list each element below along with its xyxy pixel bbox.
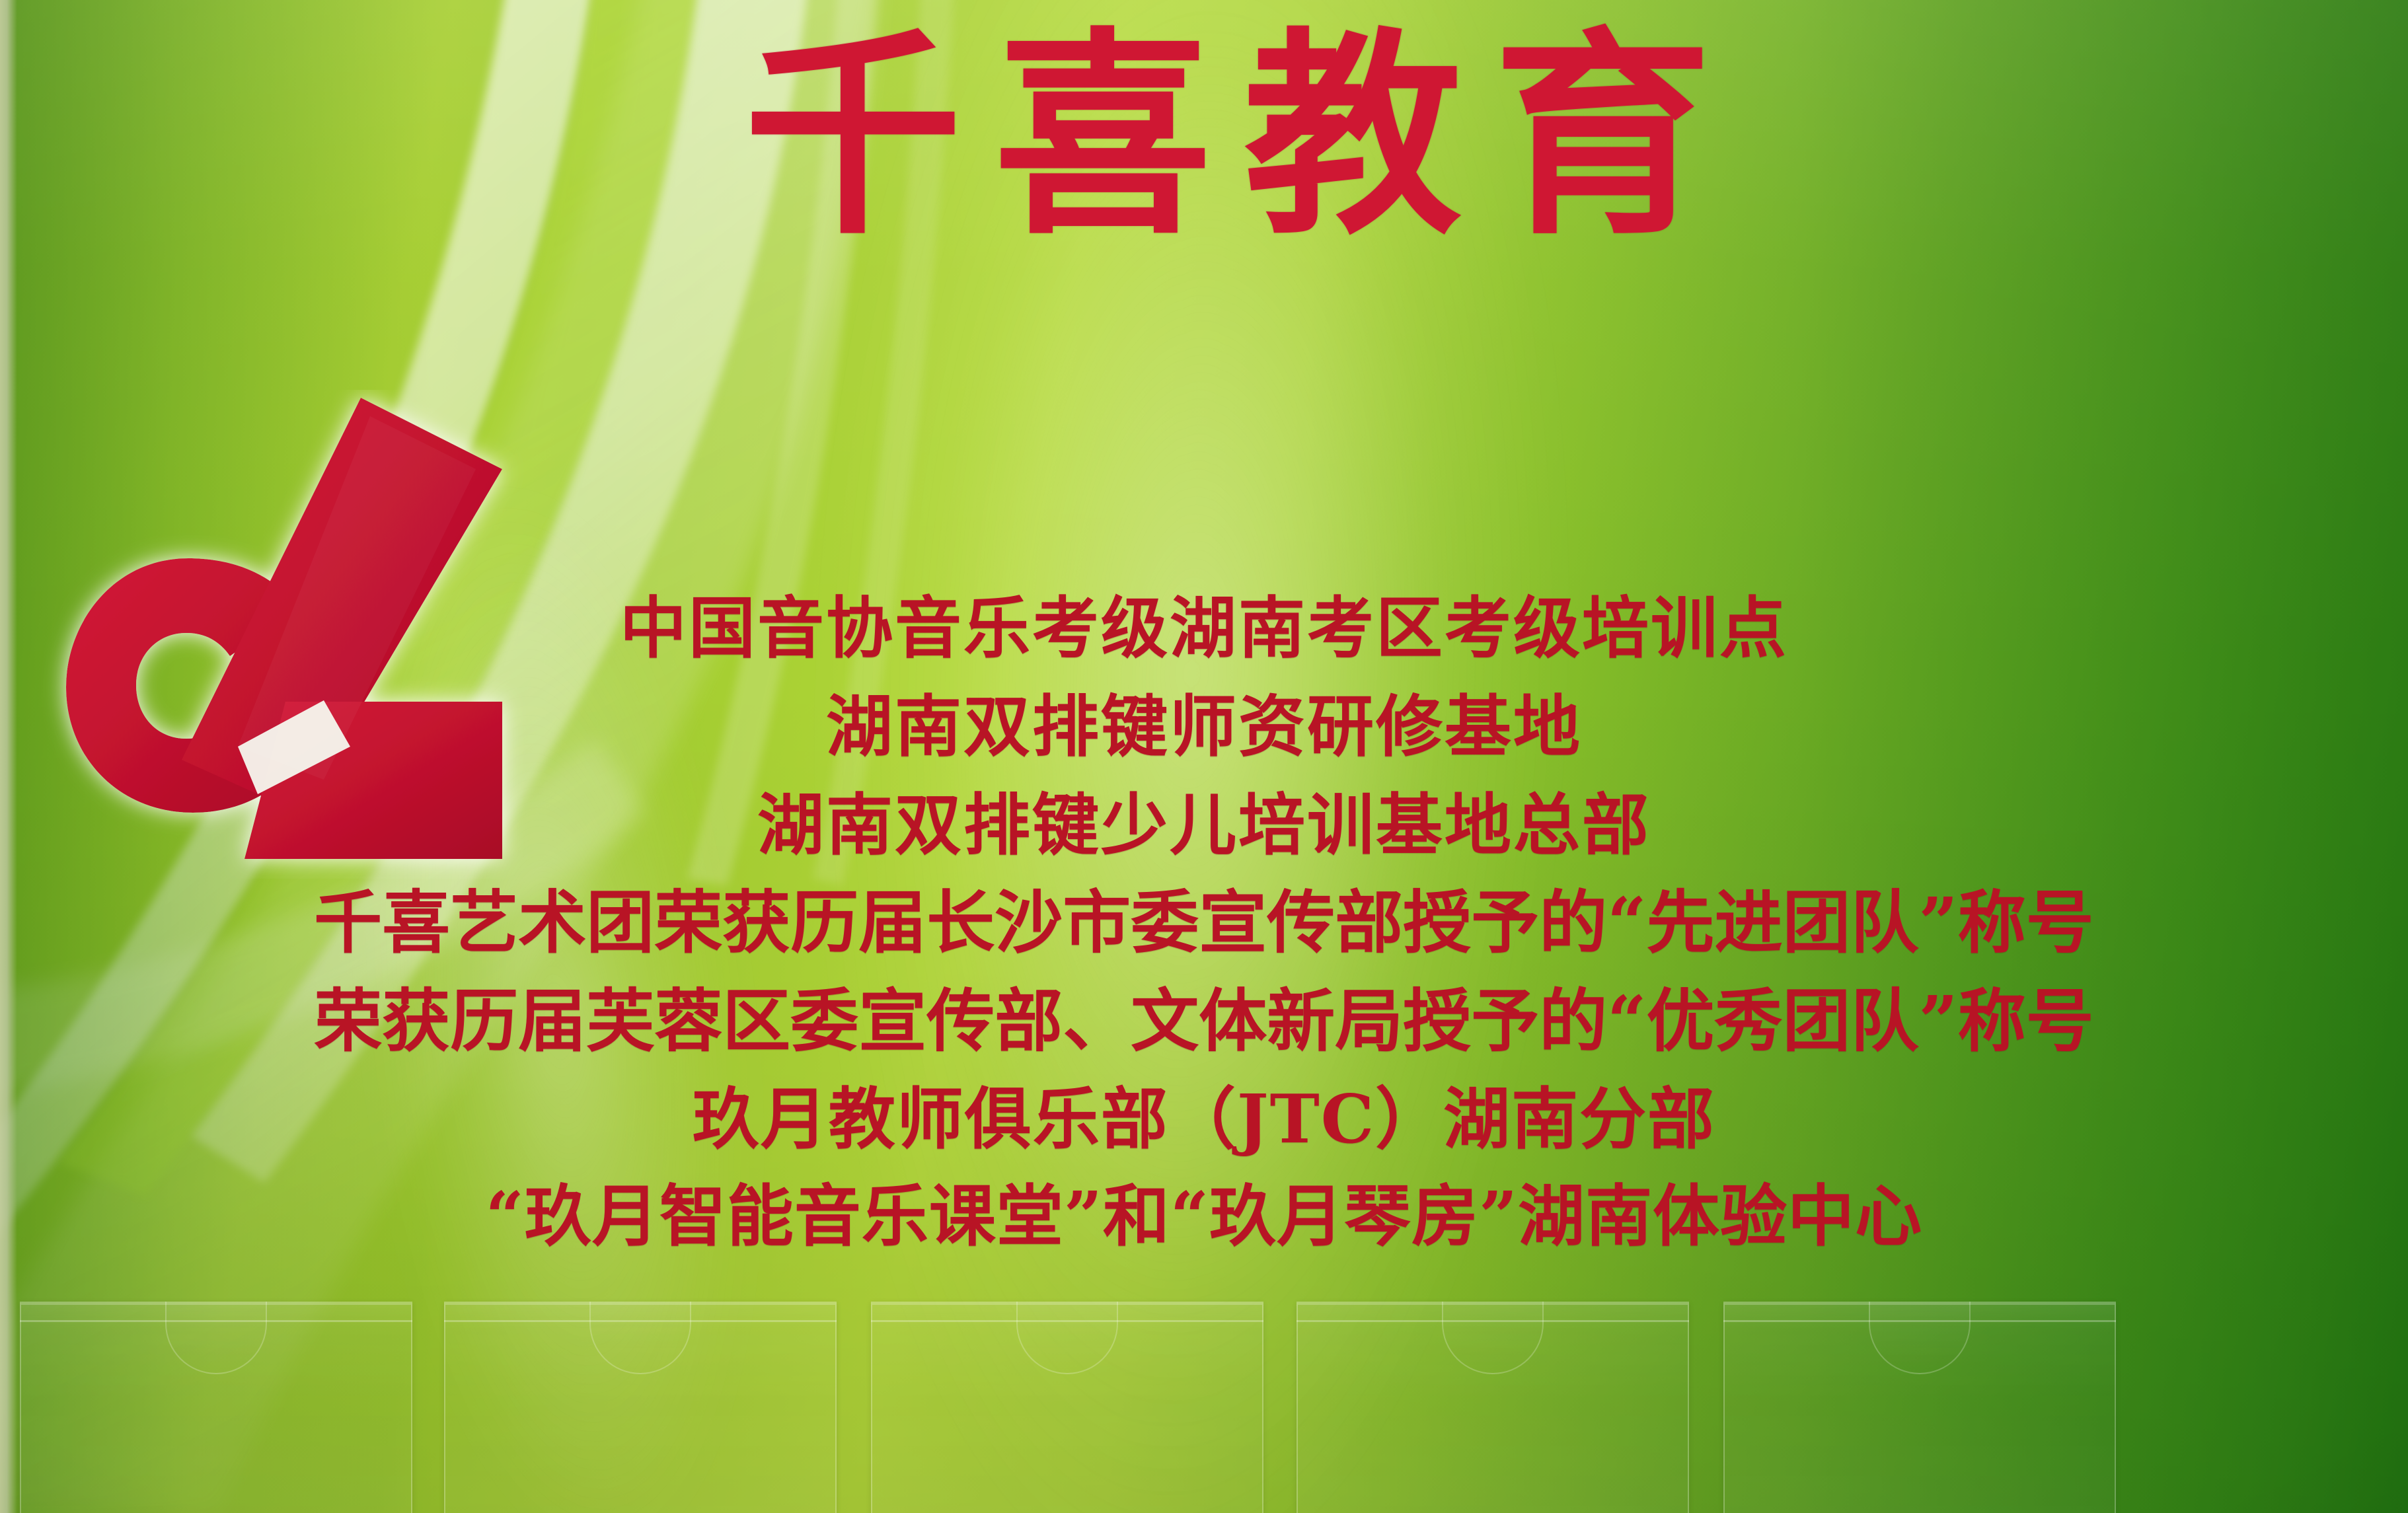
brochure-pocket[interactable] xyxy=(871,1302,1263,1513)
signboard: 千喜教育 中国音协音乐考级湖南考区考级培训点 湖南双排键师资研修基地 湖南双排键… xyxy=(0,0,2408,1513)
pocket-notch xyxy=(1442,1302,1544,1374)
pocket-notch xyxy=(1869,1302,1971,1374)
pocket-notch xyxy=(1016,1302,1118,1374)
credential-list: 中国音协音乐考级湖南考区考级培训点 湖南双排键师资研修基地 湖南双排键少儿培训基… xyxy=(0,595,2408,1249)
credential-line: 中国音协音乐考级湖南考区考级培训点 xyxy=(0,595,2408,661)
pocket-notch xyxy=(165,1302,267,1374)
pocket-notch xyxy=(589,1302,691,1374)
page-title: 千喜教育 xyxy=(0,26,2408,244)
credential-line: 千喜艺术团荣获历届长沙市委宣传部授予的“先进团队”称号 xyxy=(0,889,2408,957)
brochure-pocket[interactable] xyxy=(1297,1302,1689,1513)
credential-line: 荣获历届芙蓉区委宣传部、文体新局授予的“优秀团队”称号 xyxy=(0,987,2408,1055)
credential-line: 湖南双排键少儿培训基地总部 xyxy=(0,792,2408,858)
brochure-pocket[interactable] xyxy=(20,1302,412,1513)
credential-line: 湖南双排键师资研修基地 xyxy=(0,693,2408,760)
credential-line: 玖月教师俱乐部（JTC）湖南分部 xyxy=(0,1086,2408,1152)
wall-left-edge xyxy=(0,0,17,1513)
brochure-pocket[interactable] xyxy=(444,1302,837,1513)
brochure-pocket-row xyxy=(0,1295,2408,1513)
credential-line: “玖月智能音乐课堂”和“玖月琴房”湖南体验中心 xyxy=(0,1183,2408,1249)
brochure-pocket[interactable] xyxy=(1723,1302,2116,1513)
